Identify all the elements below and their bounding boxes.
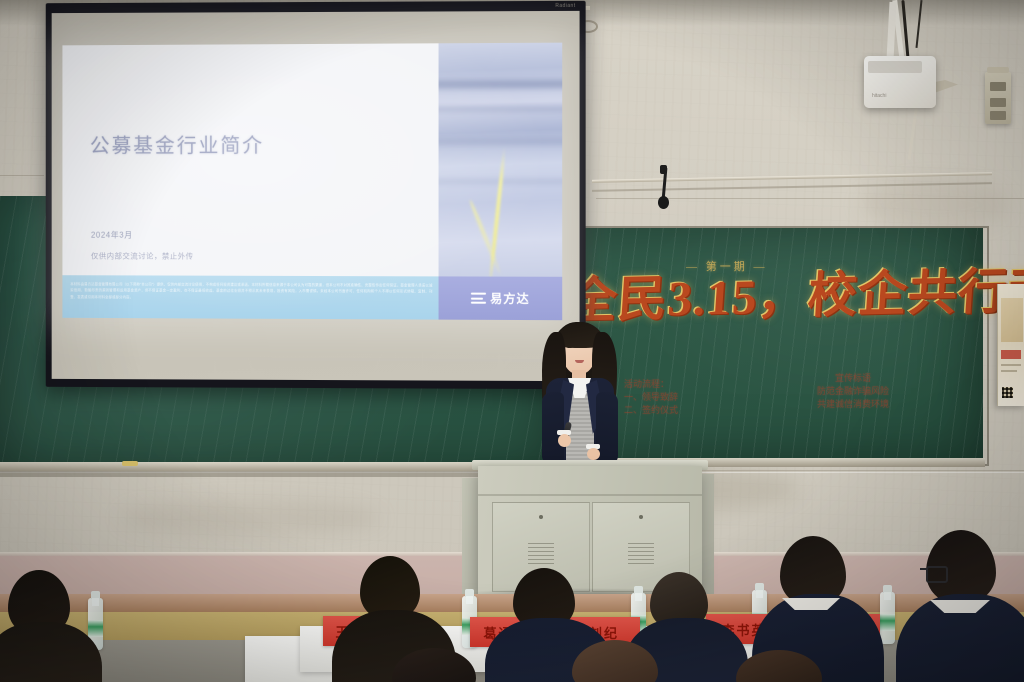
bottle-neck xyxy=(884,592,891,600)
poster-gold-graphic xyxy=(1001,298,1023,342)
bottle-label xyxy=(880,614,895,631)
podium-vent xyxy=(528,543,554,565)
poster-text-line xyxy=(1001,370,1017,372)
podium-lock-knob[interactable] xyxy=(539,515,543,519)
glasses-icon xyxy=(926,566,948,583)
lecture-hall-scene: — 第一期 — 全民3.15，校企共行动 活动流程： 一、领导致辞 二、签约仪式… xyxy=(0,0,1024,682)
box-slot xyxy=(990,111,1006,120)
podium-vent xyxy=(628,543,654,565)
poster-red-banner xyxy=(1001,350,1021,359)
screen-brand-label: Radiant xyxy=(555,3,575,9)
head xyxy=(392,648,476,682)
water-bottle xyxy=(880,592,895,644)
audience-member xyxy=(908,530,1024,682)
hand-left xyxy=(558,434,571,447)
wall-mounted-projector: hitachi xyxy=(864,56,936,108)
box-slot xyxy=(990,82,1006,91)
projection-screen: Radiant 公募基金行业简介 2024年3月 仅供内部交流讨论，禁止外传 本… xyxy=(46,1,586,389)
slide-disclaimer-text: 本材料由易方达基金管理有限公司（以下简称"本公司"）提供，仅供内部交流讨论使用，… xyxy=(70,281,432,301)
projected-slide: 公募基金行业简介 2024年3月 仅供内部交流讨论，禁止外传 本材料由易方达基金… xyxy=(62,43,562,321)
qr-code-icon xyxy=(1002,387,1013,398)
hanging-microphone-icon xyxy=(658,196,669,209)
bottle-neck xyxy=(466,596,473,604)
wall-poster xyxy=(997,284,1024,406)
slide-confidentiality-note: 仅供内部交流讨论，禁止外传 xyxy=(91,250,194,261)
slide-brand-bar: 易方达 xyxy=(439,276,563,320)
wall-stain xyxy=(860,180,1010,230)
chalk-tray-left-shadow xyxy=(0,471,548,477)
projector-lens-panel xyxy=(868,61,922,73)
audience-member xyxy=(382,648,486,682)
projector-brand-label: hitachi xyxy=(872,93,886,99)
electrical-junction-box xyxy=(985,72,1011,124)
photo-ridge xyxy=(439,139,563,145)
brand-name: 易方达 xyxy=(490,290,530,307)
head xyxy=(736,650,822,682)
slide-date: 2024年3月 xyxy=(91,230,133,241)
slide-footer-band: 本材料由易方达基金管理有限公司（以下简称"本公司"）提供，仅供内部交流讨论使用，… xyxy=(62,275,438,319)
chalkboard-left-note: 活动流程： 一、领导致辞 二、签约仪式 xyxy=(624,378,734,417)
chalkboard-right-note: 宣传标语 防范金融诈骗风险 共建诚信消费环境 xyxy=(778,372,928,411)
poster-text-line xyxy=(1001,364,1021,366)
podium-seam xyxy=(478,494,702,496)
chalkboard-headline: 全民3.15，校企共行动 xyxy=(566,268,985,326)
efund-logo-icon xyxy=(471,293,486,304)
box-lid xyxy=(987,67,1009,73)
hand-right xyxy=(587,448,600,460)
slide-title: 公募基金行业简介 xyxy=(90,129,264,158)
photo-ridge xyxy=(439,80,563,89)
arm-left xyxy=(542,392,564,464)
chalk-tray-left xyxy=(0,462,548,471)
shoulders xyxy=(0,622,102,682)
box-slot xyxy=(990,98,1006,107)
audience-member xyxy=(0,570,110,682)
podium-lock-knob[interactable] xyxy=(639,515,643,519)
glasses-temple xyxy=(920,568,928,570)
head xyxy=(572,640,658,682)
wall-stain xyxy=(120,500,380,536)
slide-photo-landscape xyxy=(439,43,563,277)
chalk-piece xyxy=(122,461,138,466)
wall-seam xyxy=(0,175,44,176)
photo-ridge xyxy=(439,106,563,111)
audience-member xyxy=(726,650,830,682)
audience-member xyxy=(560,640,670,682)
